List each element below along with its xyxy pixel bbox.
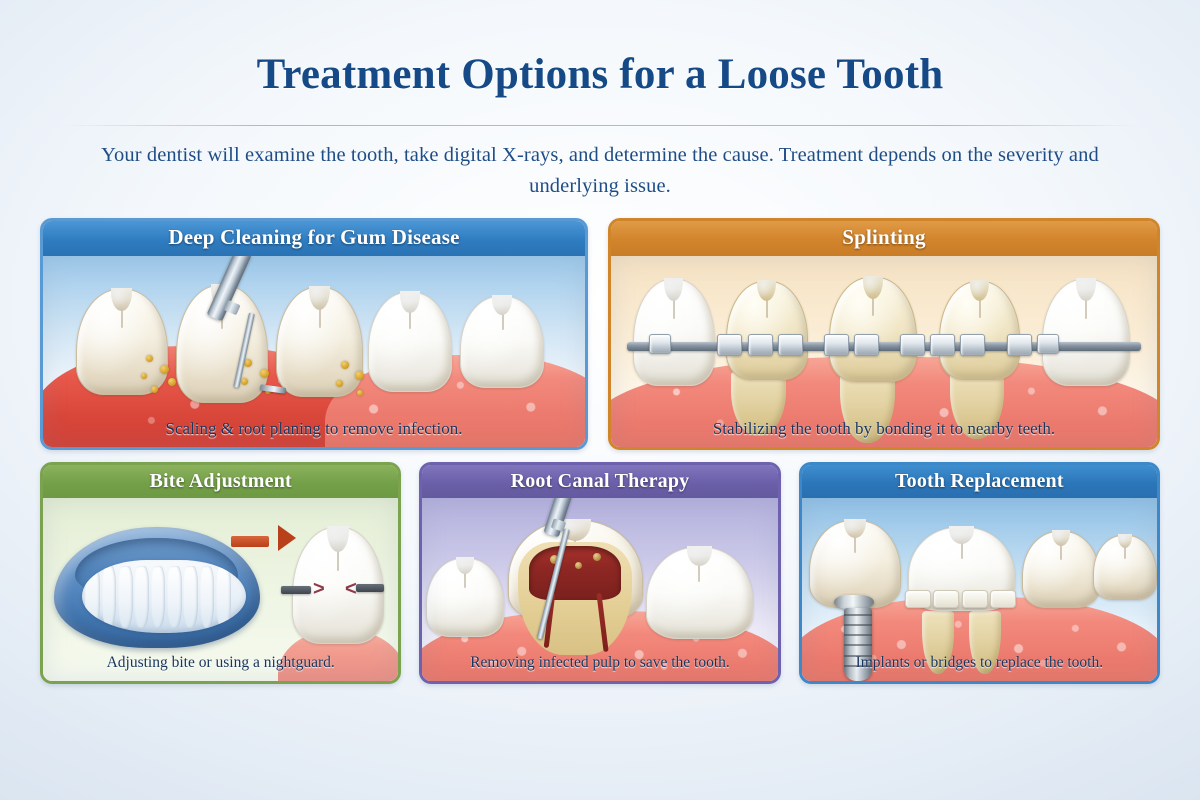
tartar-deposit <box>160 365 169 374</box>
card-bite-adjustment[interactable]: Bite Adjustment <box>40 462 401 684</box>
tooth-splint-5 <box>1042 279 1129 386</box>
process-arrow-shaft <box>231 536 269 547</box>
splint-bracket <box>854 334 879 356</box>
splint-bracket <box>824 334 849 356</box>
tartar-deposit <box>168 378 176 386</box>
page-title: Treatment Options for a Loose Tooth <box>0 52 1200 98</box>
card-root-canal-therapy[interactable]: Root Canal Therapy <box>419 462 780 684</box>
card-header-splinting: Splinting <box>611 221 1157 256</box>
splint-bracket <box>930 334 955 356</box>
tartar-deposit <box>141 373 147 379</box>
tooth-diseased-3 <box>276 287 363 398</box>
bite-chevron-right: > <box>313 579 325 599</box>
splint-bracket <box>1007 334 1032 356</box>
splint-bracket <box>778 334 803 356</box>
tooth-splint-1 <box>633 279 715 386</box>
bite-marker-left <box>281 586 311 594</box>
card-caption-splinting: Stabilizing the tooth by bonding it to n… <box>611 414 1157 447</box>
tartar-deposit <box>355 371 364 380</box>
card-deep-cleaning[interactable]: Deep Cleaning for Gum Disease <box>40 218 588 450</box>
card-splinting[interactable]: Splinting <box>608 218 1160 450</box>
tooth-neighbour-left <box>426 558 504 637</box>
infected-pulp-chamber <box>529 546 621 601</box>
card-row-top: Deep Cleaning for Gum Disease <box>40 218 1160 450</box>
splint-bracket <box>900 334 925 356</box>
card-header-root-canal-therapy: Root Canal Therapy <box>422 465 777 498</box>
tooth-neighbour-right <box>646 547 753 639</box>
bite-chevron-left: < <box>345 579 357 599</box>
poster-header: Treatment Options for a Loose Tooth <box>0 52 1200 98</box>
pulp-decay-spot <box>593 553 601 561</box>
process-arrow-head <box>278 525 296 551</box>
card-caption-tooth-replacement: Implants or bridges to replace the tooth… <box>802 649 1157 681</box>
splint-bracket <box>717 334 742 356</box>
card-header-tooth-replacement: Tooth Replacement <box>802 465 1157 498</box>
tooth-healthy-1 <box>368 292 452 391</box>
card-row-bottom: Bite Adjustment <box>40 462 1160 684</box>
splint-bracket <box>1037 334 1059 354</box>
implant-abutment-collar <box>834 595 874 609</box>
tooth-splint-2 <box>726 281 808 380</box>
tartar-deposit <box>260 369 269 378</box>
tooth-diseased-1 <box>76 289 168 396</box>
card-tooth-replacement[interactable]: Tooth Replacement <box>799 462 1160 684</box>
card-header-deep-cleaning: Deep Cleaning for Gum Disease <box>43 221 585 256</box>
bridge-pontic-segment <box>933 590 959 608</box>
infographic-poster: Treatment Options for a Loose Tooth Your… <box>0 0 1200 800</box>
tooth-healthy-2 <box>460 296 544 388</box>
card-caption-root-canal-therapy: Removing infected pulp to save the tooth… <box>422 649 777 681</box>
title-divider <box>62 125 1138 126</box>
tooth-natural-2 <box>1093 535 1157 601</box>
splint-bracket <box>960 334 985 356</box>
splint-bracket <box>748 334 773 356</box>
tartar-deposit <box>336 380 343 387</box>
tooth-natural-1 <box>1022 531 1100 608</box>
nightguard-teeth-impression <box>82 560 245 633</box>
bite-marker-right <box>356 584 384 592</box>
card-caption-bite-adjustment: Adjusting bite or using a nightguard. <box>43 649 398 681</box>
bridge-pontic-segment <box>905 590 931 608</box>
tooth-splint-3 <box>829 277 916 382</box>
tooth-splint-4 <box>939 281 1021 380</box>
card-caption-deep-cleaning: Scaling & root planing to remove infecti… <box>43 414 585 447</box>
card-header-bite-adjustment: Bite Adjustment <box>43 465 398 498</box>
splint-bracket <box>649 334 671 354</box>
splint-wire <box>627 342 1140 351</box>
bridge-pontic-segment <box>990 590 1016 608</box>
page-subtitle: Your dentist will examine the tooth, tak… <box>70 140 1130 202</box>
bridge-pontic-segment <box>962 590 988 608</box>
